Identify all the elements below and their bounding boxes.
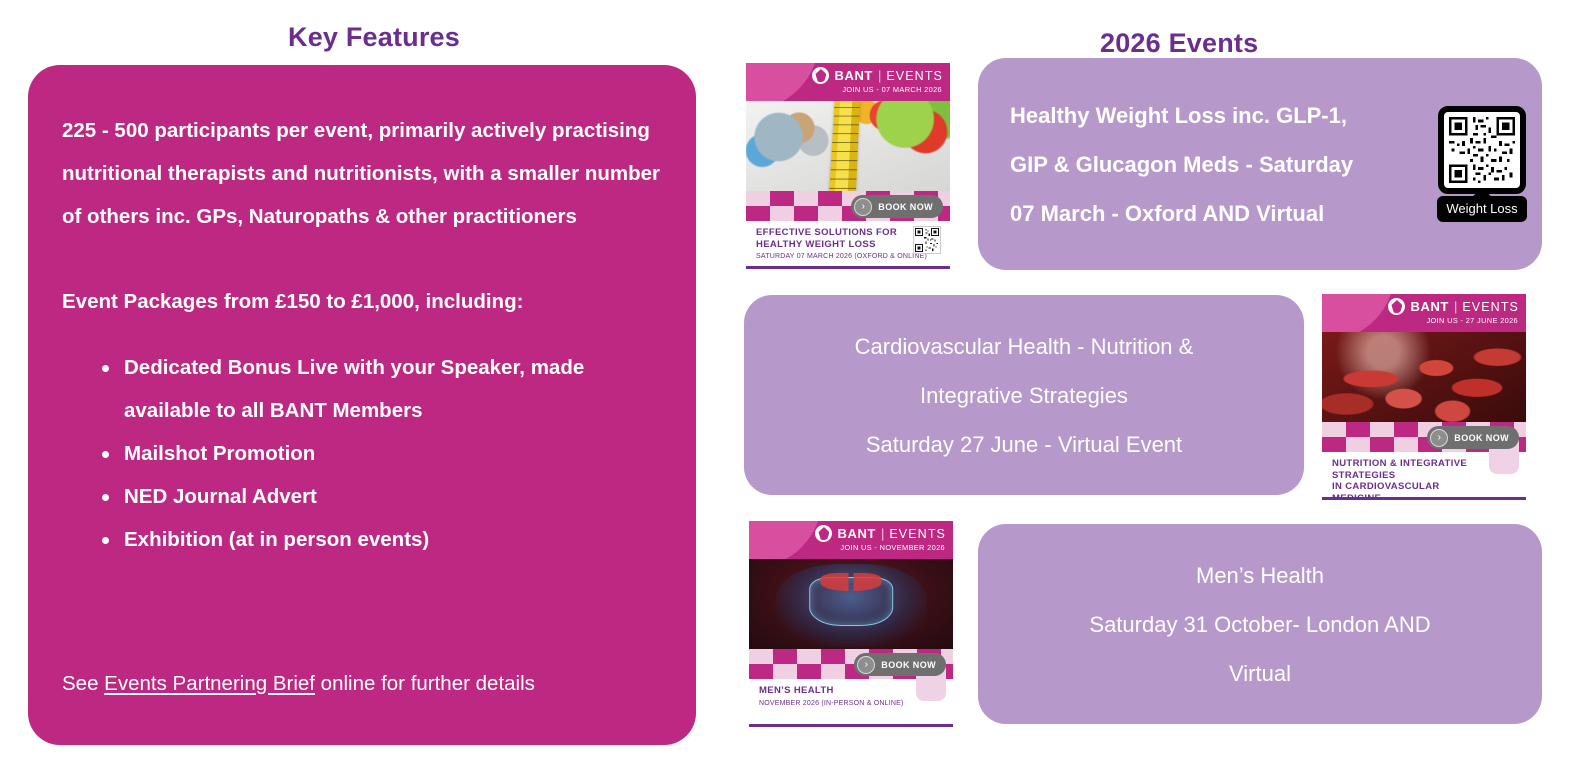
bant-brand-text: BANT bbox=[837, 526, 876, 541]
event-card-text: Men’s Health Saturday 31 October- London… bbox=[1089, 551, 1430, 698]
bant-events-text: EVENTS bbox=[889, 527, 946, 541]
list-item: NED Journal Advert bbox=[102, 475, 662, 518]
event-card-line: Integrative Strategies bbox=[855, 371, 1194, 420]
event-card-cardiovascular[interactable]: Cardiovascular Health - Nutrition & Inte… bbox=[744, 295, 1304, 495]
key-features-heading: Key Features bbox=[288, 22, 460, 53]
event-card-line: Cardiovascular Health - Nutrition & bbox=[855, 322, 1194, 371]
qr-block: Weight Loss bbox=[1436, 106, 1528, 222]
thumbnail-title-line-2: IN CARDIOVASCULAR MEDICINE bbox=[1332, 481, 1482, 500]
key-features-bullet-list: Dedicated Bonus Live with your Speaker, … bbox=[62, 346, 662, 561]
key-features-packages-paragraph: Event Packages from £150 to £1,000, incl… bbox=[62, 280, 662, 323]
events-partnering-brief-line: See Events Partnering Brief online for f… bbox=[62, 669, 535, 699]
thumbnail-checker-strip: › BOOK NOW bbox=[1322, 422, 1526, 452]
brief-suffix-text: online for further details bbox=[315, 672, 535, 695]
thumbnail-subtitle: SATURDAY 07 MARCH 2026 (OXFORD & ONLINE) bbox=[756, 253, 942, 260]
book-now-label: BOOK NOW bbox=[1454, 433, 1509, 443]
events-section-heading: 2026 Events bbox=[1100, 28, 1258, 59]
thumbnail-qr-icon[interactable] bbox=[913, 226, 941, 254]
bant-logo: BANT | EVENTS bbox=[812, 67, 943, 84]
thumbnail-footer: NUTRITION & INTEGRATIVE STRATEGIES IN CA… bbox=[1322, 452, 1526, 500]
thumbnail-join-us-text: JOIN US - 07 MARCH 2026 bbox=[842, 85, 942, 94]
thumbnail-banner: BANT | EVENTS JOIN US - 27 JUNE 2026 bbox=[1322, 294, 1526, 332]
brand-separator: | bbox=[1454, 299, 1457, 314]
thumbnail-title-line-1: NUTRITION & INTEGRATIVE STRATEGIES bbox=[1332, 458, 1482, 481]
event-card-line: GIP & Glucagon Meds - Saturday bbox=[1010, 140, 1353, 189]
photo-artwork bbox=[749, 559, 953, 649]
bant-events-text: EVENTS bbox=[886, 69, 943, 83]
event-card-line: Saturday 31 October- London AND bbox=[1089, 600, 1430, 649]
thumbnail-title-line-1: EFFECTIVE SOLUTIONS FOR bbox=[756, 227, 906, 239]
event-thumbnail-weight-loss[interactable]: BANT | EVENTS JOIN US - 07 MARCH 2026 › … bbox=[746, 63, 950, 269]
brief-prefix-text: See bbox=[62, 672, 104, 695]
thumbnail-join-us-text: JOIN US - 27 JUNE 2026 bbox=[1427, 316, 1519, 325]
event-card-weight-loss[interactable]: Healthy Weight Loss inc. GLP-1, GIP & Gl… bbox=[978, 58, 1542, 270]
book-now-button[interactable]: › BOOK NOW bbox=[851, 195, 943, 218]
bant-leaf-icon bbox=[812, 67, 829, 84]
event-card-line: 07 March - Oxford AND Virtual bbox=[1010, 189, 1353, 238]
bant-logo: BANT | EVENTS bbox=[1388, 298, 1519, 315]
photo-artwork bbox=[746, 101, 950, 191]
book-now-label: BOOK NOW bbox=[878, 202, 933, 212]
list-item: Mailshot Promotion bbox=[102, 432, 662, 475]
bant-brand-text: BANT bbox=[1410, 299, 1449, 314]
thumbnail-footer: MEN’S HEALTH NOVEMBER 2026 (IN-PERSON & … bbox=[749, 679, 953, 727]
event-thumbnail-cardiovascular[interactable]: BANT | EVENTS JOIN US - 27 JUNE 2026 › B… bbox=[1322, 294, 1526, 500]
qr-tooltip-label: Weight Loss bbox=[1437, 196, 1526, 222]
key-features-panel: 225 - 500 participants per event, primar… bbox=[28, 65, 696, 745]
thumbnail-photo-pills-vegetables bbox=[746, 101, 950, 191]
thumbnail-banner: BANT | EVENTS JOIN US - 07 MARCH 2026 bbox=[746, 63, 950, 101]
event-card-line: Virtual bbox=[1089, 649, 1430, 698]
thumbnail-title-line-1: MEN’S HEALTH bbox=[759, 685, 909, 697]
brand-separator: | bbox=[881, 526, 884, 541]
bant-events-text: EVENTS bbox=[1462, 300, 1519, 314]
event-card-line: Men’s Health bbox=[1089, 551, 1430, 600]
book-now-label: BOOK NOW bbox=[881, 660, 936, 670]
bant-leaf-icon bbox=[815, 525, 832, 542]
chevron-right-icon: › bbox=[854, 198, 872, 216]
list-item: Exhibition (at in person events) bbox=[102, 518, 662, 561]
event-card-text: Cardiovascular Health - Nutrition & Inte… bbox=[855, 322, 1194, 469]
thumbnail-checker-strip: › BOOK NOW bbox=[749, 649, 953, 679]
thumbnail-footer: EFFECTIVE SOLUTIONS FOR HEALTHY WEIGHT L… bbox=[746, 221, 950, 269]
photo-artwork bbox=[1322, 332, 1526, 422]
bant-logo: BANT | EVENTS bbox=[815, 525, 946, 542]
key-features-intro-paragraph: 225 - 500 participants per event, primar… bbox=[62, 109, 662, 238]
lungs-graphic bbox=[820, 573, 881, 591]
event-card-line: Saturday 27 June - Virtual Event bbox=[855, 420, 1194, 469]
book-now-button[interactable]: › BOOK NOW bbox=[1427, 426, 1519, 449]
events-partnering-brief-link[interactable]: Events Partnering Brief bbox=[104, 672, 315, 695]
event-card-mens-health[interactable]: Men’s Health Saturday 31 October- London… bbox=[978, 524, 1542, 724]
chevron-right-icon: › bbox=[857, 656, 875, 674]
bant-leaf-icon bbox=[1388, 298, 1405, 315]
thumbnail-photo-human-anatomy bbox=[749, 559, 953, 649]
thumbnail-join-us-text: JOIN US - NOVEMBER 2026 bbox=[840, 543, 945, 552]
brand-separator: | bbox=[878, 68, 881, 83]
thumbnail-photo-red-blood-cells bbox=[1322, 332, 1526, 422]
event-thumbnail-mens-health[interactable]: BANT | EVENTS JOIN US - NOVEMBER 2026 › … bbox=[749, 521, 953, 727]
book-now-button[interactable]: › BOOK NOW bbox=[854, 653, 946, 676]
bant-brand-text: BANT bbox=[834, 68, 873, 83]
thumbnail-subtitle: NOVEMBER 2026 (IN-PERSON & ONLINE) bbox=[759, 700, 945, 707]
qr-code-icon[interactable] bbox=[1438, 106, 1526, 194]
measuring-tape-graphic bbox=[829, 101, 860, 191]
event-card-line: Healthy Weight Loss inc. GLP-1, bbox=[1010, 91, 1353, 140]
thumbnail-banner: BANT | EVENTS JOIN US - NOVEMBER 2026 bbox=[749, 521, 953, 559]
thumbnail-checker-strip: › BOOK NOW bbox=[746, 191, 950, 221]
list-item: Dedicated Bonus Live with your Speaker, … bbox=[102, 346, 662, 432]
event-card-text: Healthy Weight Loss inc. GLP-1, GIP & Gl… bbox=[1010, 91, 1353, 238]
chevron-right-icon: › bbox=[1430, 429, 1448, 447]
thumbnail-title-line-2: HEALTHY WEIGHT LOSS bbox=[756, 239, 906, 251]
